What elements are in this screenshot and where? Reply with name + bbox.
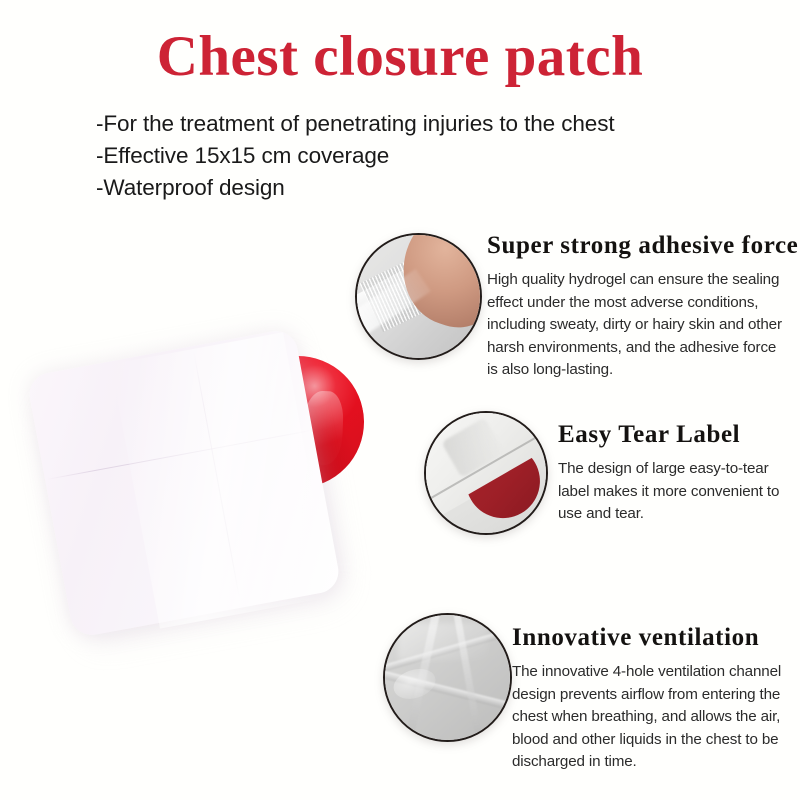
feature-heading: Super strong adhesive force: [487, 231, 798, 261]
feature-body: The design of large easy-to-tear label m…: [558, 458, 798, 526]
glare-highlight: [398, 623, 488, 661]
bullet-item: -For the treatment of penetrating injuri…: [96, 108, 756, 140]
ventilation-photo-art: [385, 615, 510, 740]
feature-heading: Easy Tear Label: [558, 420, 740, 450]
bullet-item: -Effective 15x15 cm coverage: [96, 140, 756, 172]
patch-illustration: [20, 320, 400, 640]
adhesive-photo-art: [357, 235, 480, 358]
feature-body: The innovative 4-hole ventilation channe…: [512, 661, 792, 774]
feature-body: High quality hydrogel can ensure the sea…: [487, 269, 783, 382]
tear-label-photo-art: [426, 413, 546, 533]
product-infographic: Chest closure patch -For the treatment o…: [0, 0, 800, 800]
ventilation-photo-icon: [383, 613, 512, 742]
tear-label-photo-icon: [424, 411, 548, 535]
surface-highlight: [389, 664, 438, 703]
bullet-item: -Waterproof design: [96, 172, 756, 204]
page-title: Chest closure patch: [0, 24, 800, 90]
feature-heading: Innovative ventilation: [512, 623, 759, 653]
product-photo: [20, 320, 400, 640]
patch-body: [26, 327, 342, 638]
adhesive-photo-icon: [355, 233, 482, 360]
feature-bullet-list: -For the treatment of penetrating injuri…: [96, 108, 756, 204]
